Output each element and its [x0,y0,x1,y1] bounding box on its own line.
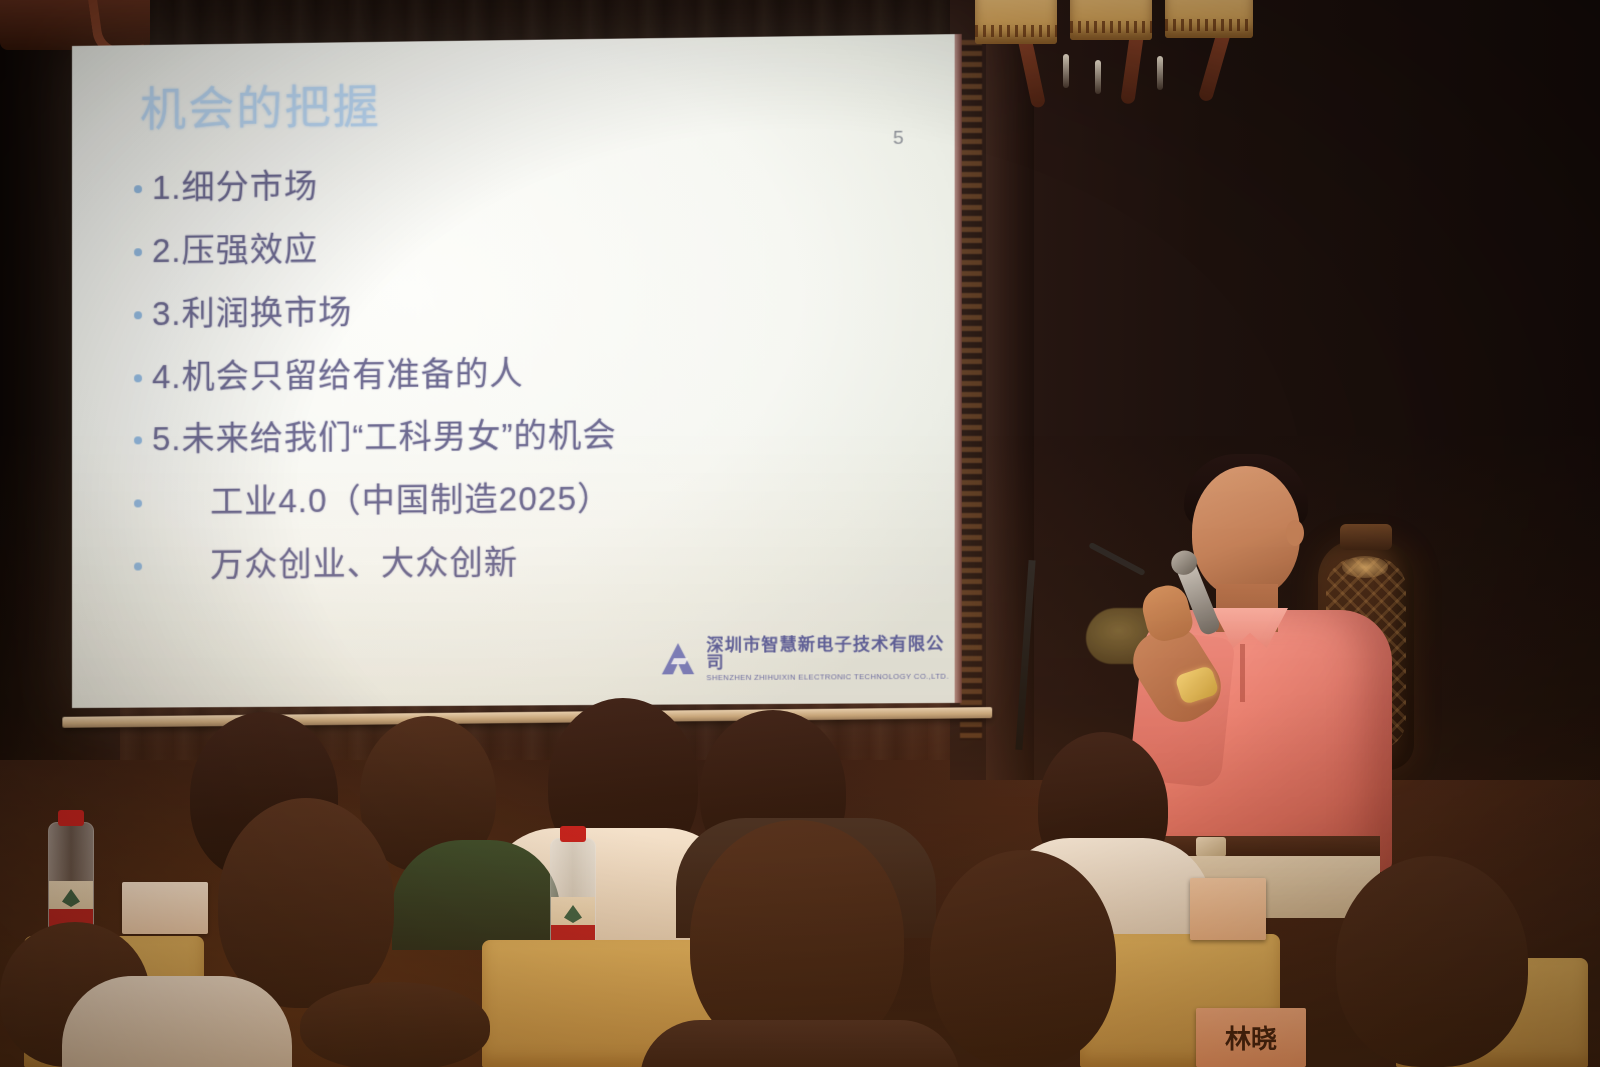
wood-ceiling-trim [0,0,150,50]
attendee-shoulders [62,976,292,1067]
company-name-en: SHENZHEN ZHIHUIXIN ELECTRONIC TECHNOLOGY… [706,673,960,682]
attendee-head [300,982,490,1067]
bottle-label [49,881,93,927]
list-item: 4.机会只留给有准备的人 [134,346,942,401]
attendee-head [1336,856,1528,1067]
list-item: 5.未来给我们“工科男女”的机会 [134,409,942,463]
crystal-drop [1095,60,1101,94]
chandelier-arm [1120,33,1144,104]
bullet-text: 万众创业、大众创新 [152,540,518,590]
name-card [122,882,208,934]
attendee-shoulders [392,840,560,950]
slide-footer-logo: 深圳市智慧新电子技术有限公司 SHENZHEN ZHIHUIXIN ELECTR… [661,635,961,682]
page-title: 机会的把握 [140,70,381,139]
bullet-dot-icon [134,248,142,256]
bullet-dot-icon [134,311,142,319]
list-item: 万众创业、大众创新 [134,536,942,589]
attendee-head [218,798,394,1008]
bullet-text: 5.未来给我们“工科男女”的机会 [152,412,617,463]
projection-screen: 机会的把握 5 1.细分市场 2.压强效应 3.利润换市场 4.机会只留给有准 [72,34,961,708]
bullet-text: 4.机会只留给有准备的人 [152,350,524,401]
company-name-cn: 深圳市智慧新电子技术有限公司 [706,635,960,671]
list-item: 3.利润换市场 [134,282,942,337]
bullet-dot-icon [134,500,142,508]
list-item: 2.压强效应 [134,219,942,275]
name-card: 林晓 [1196,1008,1306,1067]
chandelier [975,0,1275,106]
name-card [1190,878,1266,940]
presenter-ear [1286,520,1304,546]
bottle-logo-icon [564,905,582,923]
screenshot-root: 机会的把握 5 1.细分市场 2.压强效应 3.利润换市场 4.机会只留给有准 [0,0,1600,1067]
attendee-head [930,850,1116,1067]
screen-right-edge [955,34,962,703]
bullet-text: 2.压强效应 [152,226,318,275]
bullet-text: 工业4.0（中国制造2025） [152,476,611,527]
bullet-dot-icon [134,374,142,382]
crystal-drop [1063,54,1069,88]
list-item: 1.细分市场 [134,156,942,213]
chandelier-arm [1018,37,1046,108]
crystal-drop [1157,56,1163,90]
bottle-cap [58,810,84,826]
list-item: 工业4.0（中国制造2025） [134,473,942,527]
company-name-block: 深圳市智慧新电子技术有限公司 SHENZHEN ZHIHUIXIN ELECTR… [706,635,960,681]
lamp-shade [1070,0,1152,40]
lamp-shade [1165,0,1253,38]
bullet-text: 3.利润换市场 [152,289,352,338]
chandelier-arm [1198,31,1231,102]
slide-bullet-list: 1.细分市场 2.压强效应 3.利润换市场 4.机会只留给有准备的人 5.未来给… [134,156,942,606]
bullet-dot-icon [134,437,142,445]
bullet-text: 1.细分市场 [152,163,318,212]
company-logo-icon [661,642,697,676]
decorative-pillar-strip [960,40,982,740]
bottle-cap [560,826,586,842]
lamp-shade [975,0,1057,44]
slide-surface: 机会的把握 5 1.细分市场 2.压强效应 3.利润换市场 4.机会只留给有准 [72,34,961,708]
audience-area: 林晓 [0,690,1600,1067]
presenter-head [1192,466,1300,598]
bullet-dot-icon [134,563,142,571]
bottle-logo-icon [62,889,80,907]
attendee-shoulders [640,1020,960,1067]
bottle-label [551,897,595,943]
slide-page-number: 5 [893,128,904,150]
bullet-dot-icon [134,185,142,193]
